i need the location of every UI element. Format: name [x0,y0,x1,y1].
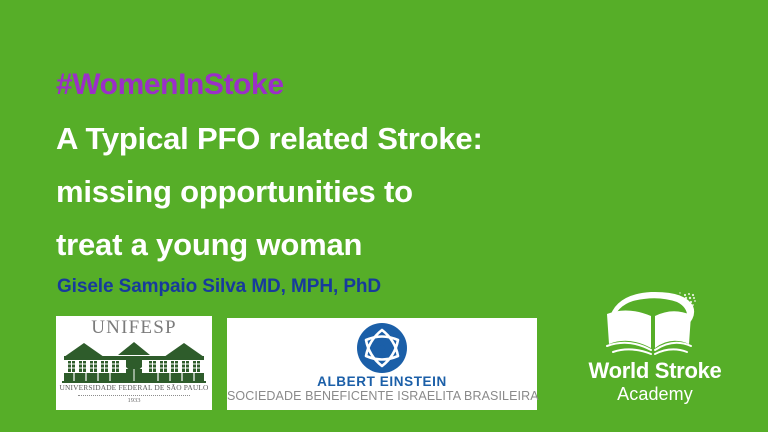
unifesp-building-icon [62,335,206,383]
logo-albert-einstein: ALBERT EINSTEIN SOCIEDADE BENEFICENTE IS… [227,318,537,410]
page-title: A Typical PFO related Stroke: missing op… [56,112,616,271]
logo-unifesp: UNIFESP [56,316,212,410]
einstein-tagline: SOCIEDADE BENEFICENTE ISRAELITA BRASILEI… [227,390,537,403]
unifesp-subtitle: UNIVERSIDADE FEDERAL DE SÃO PAULO [56,384,212,391]
open-book-swoosh-icon [599,286,711,358]
unifesp-logo-content: UNIFESP [56,316,212,410]
author-name: Gisele Sampaio Silva MD, MPH, PhD [57,276,381,299]
star-of-david-emblem-icon [356,322,408,374]
wsa-title-line1: World Stroke [565,360,745,382]
title-line-3: treat a young woman [56,218,616,271]
unifesp-divider [78,395,190,396]
presentation-title-slide: #WomenInStoke A Typical PFO related Stro… [0,0,768,432]
logo-world-stroke-academy: World Stroke Academy [565,286,745,411]
hashtag-label: #WomenInStoke [56,70,284,100]
title-line-1: A Typical PFO related Stroke: [56,112,616,165]
einstein-logo-content: ALBERT EINSTEIN SOCIEDADE BENEFICENTE IS… [227,318,537,410]
einstein-name: ALBERT EINSTEIN [227,375,537,389]
wsa-title-line2: Academy [565,385,745,403]
title-line-2: missing opportunities to [56,165,616,218]
unifesp-founding-year: 1933 [56,398,212,405]
